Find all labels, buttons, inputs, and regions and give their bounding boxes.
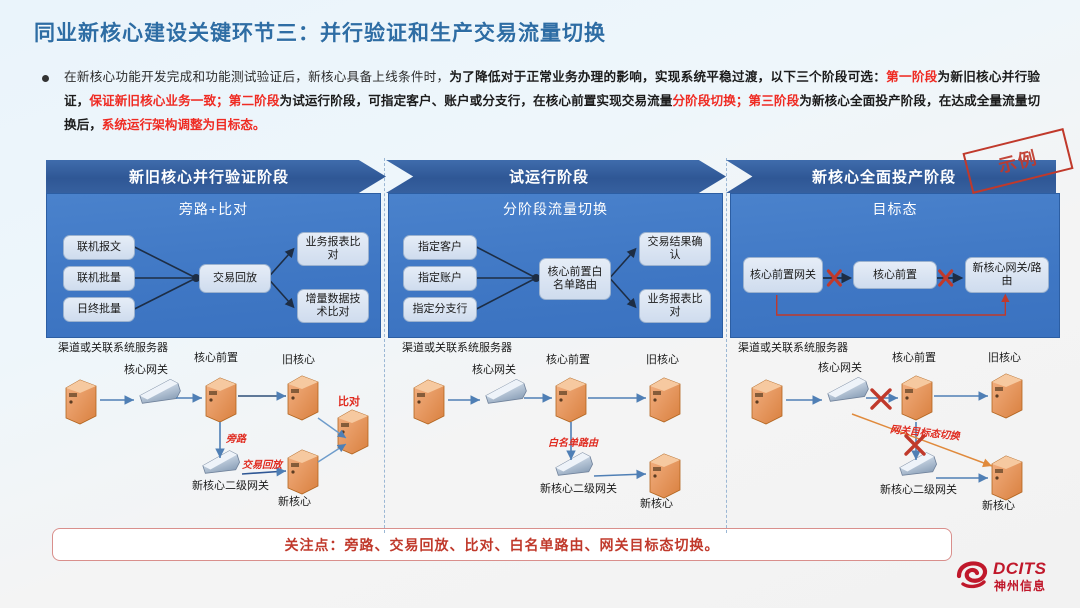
phase-3-topology: 渠道或关联系统服务器 核心网关 核心前置 旧核心 新核心二级网关 新核心 网关目… [730, 338, 1060, 526]
phase-2-input-2[interactable]: 指定账户 [403, 266, 477, 291]
phase-header-2: 试运行阶段 [386, 160, 726, 193]
phase-1-card-title: 旁路+比对 [47, 199, 380, 219]
phase-2-output-2[interactable]: 业务报表比对 [639, 289, 711, 323]
phase-2-output-1[interactable]: 交易结果确认 [639, 232, 711, 266]
phase-3-label-old-core: 旧核心 [988, 352, 1021, 365]
phase-1-label-new-gateway: 新核心二级网关 [192, 480, 269, 493]
intro-bullet: 在新核心功能开发完成和功能测试验证后，新核心具备上线条件时，为了降低对于正常业务… [40, 65, 1040, 137]
phase-1-flow: 联机报文 联机批量 日终批量 交易回放 业务报表比对 增量数据技术比对 [47, 223, 380, 335]
phase-1-input-1[interactable]: 联机报文 [63, 235, 135, 260]
server-icon [556, 378, 586, 422]
panel-divider-2 [726, 158, 727, 533]
phase-header-1-label: 新旧核心并行验证阶段 [129, 166, 303, 187]
phase-2-label-front: 核心前置 [546, 354, 590, 367]
bullet-seg-3: 第一阶段 [886, 70, 937, 84]
switch-icon [201, 449, 241, 479]
phase-2-label-new-core: 新核心 [640, 498, 673, 511]
server-icon [992, 456, 1022, 500]
phase-1-output-2[interactable]: 增量数据技术比对 [297, 289, 369, 323]
phase-3-flow: 核心前置网关 核心前置 新核心网关/路由 [731, 223, 1059, 335]
server-icon [288, 450, 318, 494]
phase-1-label-front: 核心前置 [194, 352, 238, 365]
switch-icon [554, 451, 594, 481]
phase-1-card: 旁路+比对 联机报文 联机批量 日终批量 交易回放 业务报表比对 增量数据技 [46, 193, 381, 338]
phase-panel-2: 分阶段流量切换 指定客户 指定账户 指定分支行 核心前置白名单路由 交易结果确认 [388, 193, 723, 528]
phase-3-label-new-core: 新核心 [982, 500, 1015, 513]
panel-divider-1 [384, 158, 385, 533]
bullet-seg-11: 系统运行架构调整为目标态。 [102, 118, 266, 132]
switch-icon [826, 376, 870, 407]
phase-3-label-gateway: 核心网关 [818, 362, 862, 375]
phase-3-label-new-gateway: 新核心二级网关 [880, 484, 957, 497]
phase-2-card: 分阶段流量切换 指定客户 指定账户 指定分支行 核心前置白名单路由 交易结果确认 [388, 193, 723, 338]
bullet-seg-1: 在新核心功能开发完成和功能测试验证后，新核心具备上线条件时， [64, 70, 449, 84]
phase-header-2-label: 试运行阶段 [509, 166, 603, 187]
dcits-logo-cn: 神州信息 [994, 577, 1046, 594]
phase-2-label-old-core: 旧核心 [646, 354, 679, 367]
phase-1-annotation-1: 旁路 [226, 430, 246, 445]
server-icon [206, 378, 236, 422]
key-points-callout: 关注点：旁路、交易回放、比对、白名单路由、网关目标态切换。 [52, 528, 952, 561]
phase-1-topology-graphic [46, 338, 381, 526]
phase-2-flow: 指定客户 指定账户 指定分支行 核心前置白名单路由 交易结果确认 业务报表比对 [389, 223, 722, 335]
phase-1-topology: 渠道或关联系统服务器 核心网关 核心前置 旧核心 比对 新核心二级网关 新核心 … [46, 338, 381, 526]
bullet-seg-9: 第三阶段 [748, 94, 799, 108]
bullet-seg-8: 分阶段切换； [672, 94, 748, 108]
phase-1-label-old-core: 旧核心 [282, 354, 315, 367]
dcits-logo-icon [955, 560, 989, 590]
dcits-logo: DCITS 神州信息 [955, 558, 1073, 598]
server-icon [338, 410, 368, 454]
phase-3-card-title: 目标态 [731, 199, 1059, 219]
bullet-dot-icon [42, 75, 49, 82]
phase-3-chain-2[interactable]: 核心前置 [853, 261, 937, 289]
bullet-seg-2: 为了降低对于正常业务办理的影响，实现系统平稳过渡，以下三个阶段可选： [449, 70, 886, 84]
phase-panel-1: 旁路+比对 联机报文 联机批量 日终批量 交易回放 业务报表比对 增量数据技 [46, 193, 381, 528]
server-icon [288, 376, 318, 420]
phase-panel-3: 目标态 核心前置网关 核心前置 新核心网关/路由 [730, 193, 1060, 528]
phase-3-label-front: 核心前置 [892, 352, 936, 365]
phase-2-label-new-gateway: 新核心二级网关 [540, 483, 617, 496]
server-icon [66, 380, 96, 424]
phase-1-label-compare: 比对 [338, 396, 360, 409]
phase-1-label-gateway: 核心网关 [124, 364, 168, 377]
bullet-seg-7: 为试运行阶段，可指定客户、账户或分支行，在核心前置实现交易流量 [280, 94, 673, 108]
switch-icon [484, 378, 528, 409]
dcits-logo-en: DCITS [993, 559, 1047, 579]
switch-icon [138, 378, 182, 409]
phase-3-label-source: 渠道或关联系统服务器 [738, 342, 848, 355]
phase-header-3-label: 新核心全面投产阶段 [812, 166, 970, 187]
phase-header-1: 新旧核心并行验证阶段 [46, 160, 386, 193]
phase-1-annotation-2: 交易回放 [242, 456, 282, 471]
server-icon [650, 378, 680, 422]
server-icon [650, 454, 680, 498]
bullet-seg-6: 第二阶段 [229, 94, 280, 108]
phase-2-input-1[interactable]: 指定客户 [403, 235, 477, 260]
phase-1-input-2[interactable]: 联机批量 [63, 266, 135, 291]
server-icon [414, 380, 444, 424]
bullet-seg-5: 保证新旧核心业务一致； [89, 94, 228, 108]
phase-3-card: 目标态 核心前置网关 核心前置 新核心网关/路由 [730, 193, 1060, 338]
phase-1-label-new-core: 新核心 [278, 496, 311, 509]
intro-bullet-text: 在新核心功能开发完成和功能测试验证后，新核心具备上线条件时，为了降低对于正常业务… [64, 65, 1040, 137]
phase-2-label-source: 渠道或关联系统服务器 [402, 342, 512, 355]
phase-2-middle[interactable]: 核心前置白名单路由 [539, 258, 611, 300]
phase-3-chain-3[interactable]: 新核心网关/路由 [965, 257, 1049, 293]
phase-2-topology: 渠道或关联系统服务器 核心网关 核心前置 旧核心 新核心二级网关 新核心 白名单… [388, 338, 723, 526]
phase-1-input-3[interactable]: 日终批量 [63, 297, 135, 322]
phase-2-annotation-1: 白名单路由 [548, 434, 598, 449]
server-icon [992, 374, 1022, 418]
phase-2-input-3[interactable]: 指定分支行 [403, 297, 477, 322]
server-icon [752, 380, 782, 424]
phase-1-middle[interactable]: 交易回放 [199, 264, 271, 293]
page-title: 同业新核心建设关键环节三：并行验证和生产交易流量切换 [34, 17, 606, 47]
phase-1-label-source: 渠道或关联系统服务器 [58, 342, 168, 355]
phase-2-card-title: 分阶段流量切换 [389, 199, 722, 219]
key-points-text: 关注点：旁路、交易回放、比对、白名单路由、网关目标态切换。 [285, 535, 720, 555]
phase-1-output-1[interactable]: 业务报表比对 [297, 232, 369, 266]
phase-2-label-gateway: 核心网关 [472, 364, 516, 377]
phase-3-chain-1[interactable]: 核心前置网关 [743, 257, 823, 293]
switch-icon [898, 451, 938, 481]
sample-stamp-label: 示例 [995, 144, 1040, 179]
server-icon [902, 376, 932, 420]
